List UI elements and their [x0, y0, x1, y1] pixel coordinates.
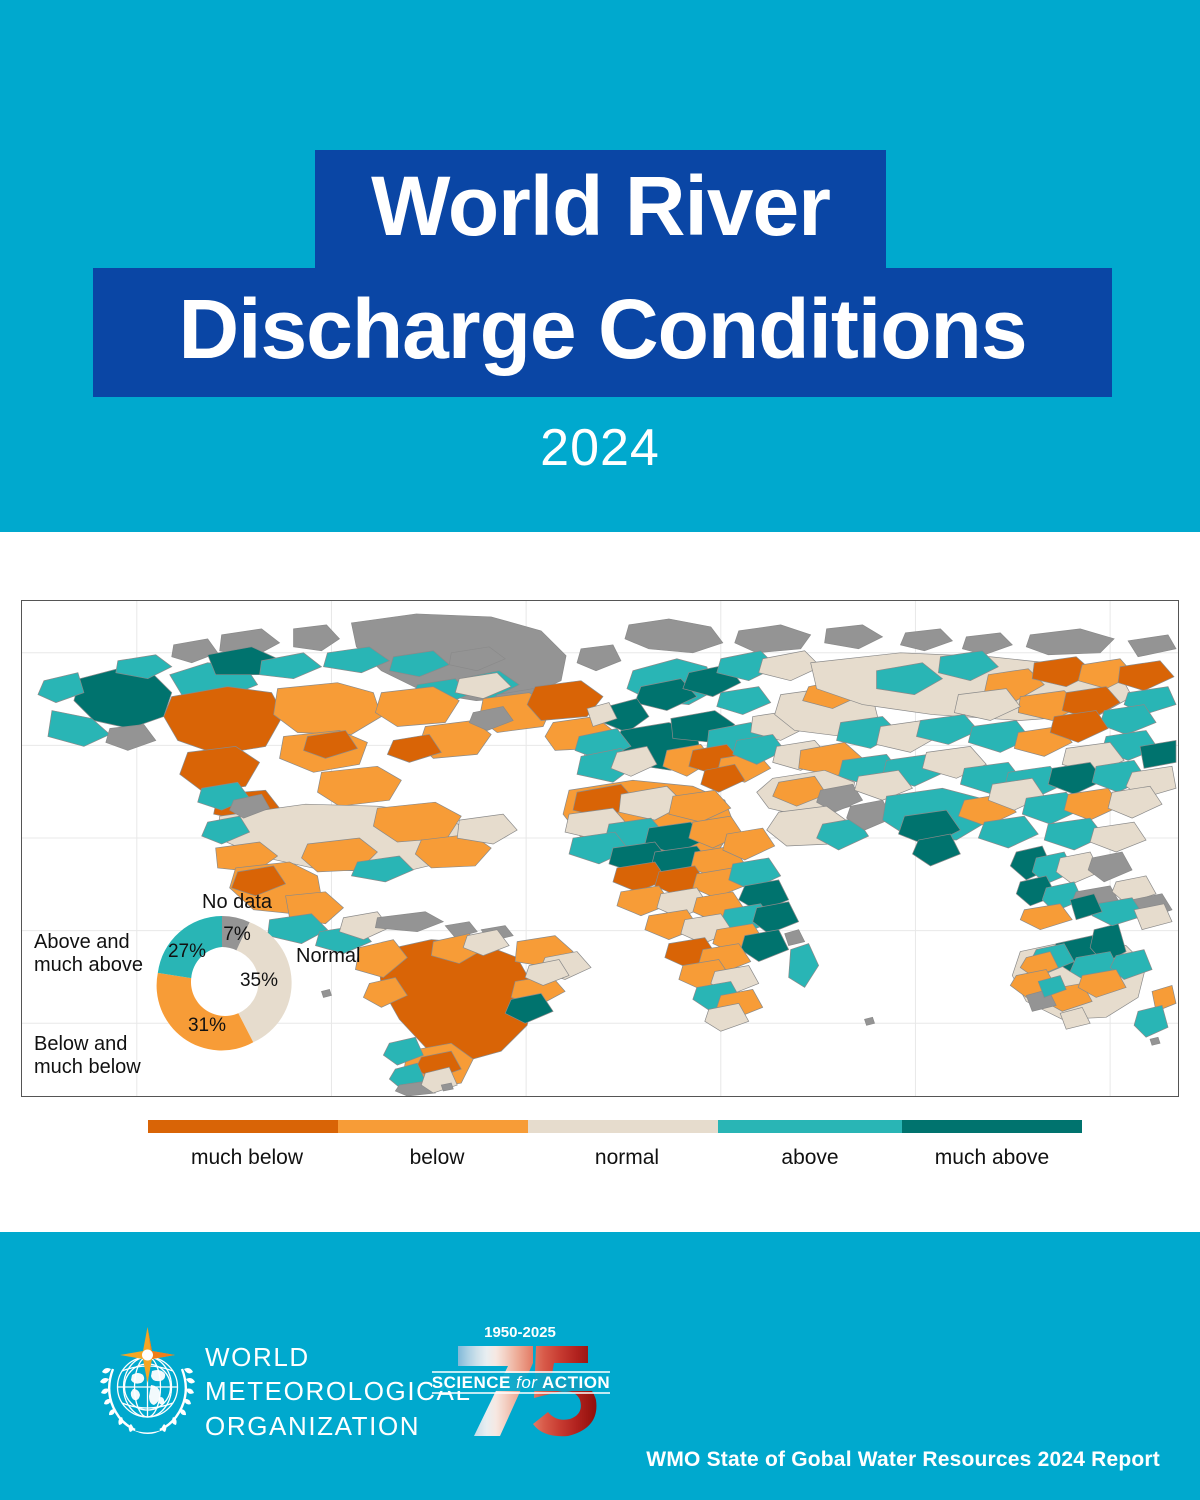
- page-title-line2: Discharge Conditions: [178, 287, 1026, 371]
- legend-label-normal: normal: [528, 1146, 726, 1170]
- page-title-line1: World River: [371, 164, 830, 248]
- donut-label-no-data: No data: [202, 891, 272, 914]
- donut-value-above: 27%: [168, 941, 206, 962]
- title-block-line2: Discharge Conditions: [93, 268, 1112, 397]
- header-band: World River Discharge Conditions 2024: [0, 0, 1200, 532]
- legend-label-above: above: [718, 1146, 902, 1170]
- anniversary-years: 1950-2025: [484, 1324, 556, 1341]
- legend-swatch-normal: [528, 1120, 726, 1133]
- legend-swatch-below: [338, 1120, 536, 1133]
- legend-item-much-above[interactable]: much above: [902, 1120, 1082, 1170]
- discharge-donut-chart: 7% 35% 31% 27%: [127, 886, 317, 1076]
- anniversary-tagline: SCIENCE for ACTION: [432, 1373, 610, 1392]
- donut-value-normal: 35%: [240, 970, 278, 991]
- legend-item-below[interactable]: below: [338, 1120, 536, 1170]
- donut-label-above-l1: Above and: [34, 931, 130, 953]
- footer-caption: WMO State of Gobal Water Resources 2024 …: [0, 1448, 1160, 1472]
- legend-swatch-much-above: [902, 1120, 1082, 1133]
- donut-label-below-l1: Below and: [34, 1033, 127, 1055]
- donut-svg: 7% 35% 31% 27%: [127, 886, 317, 1076]
- donut-label-above: Above andmuch above: [34, 931, 143, 977]
- figure-area: .mb{fill:#d96406;} /* much below */ .bl{…: [0, 532, 1200, 1232]
- donut-label-normal: Normal: [296, 945, 360, 968]
- donut-label-above-l2: much above: [34, 954, 143, 976]
- legend-swatch-above: [718, 1120, 902, 1133]
- donut-label-below-l2: much below: [34, 1056, 141, 1078]
- region-south-america: [355, 930, 591, 1096]
- legend-swatch-much-below: [148, 1120, 346, 1133]
- legend-label-below: below: [338, 1146, 536, 1170]
- legend-item-normal[interactable]: normal: [528, 1120, 726, 1170]
- map-legend: much below below normal above much above: [0, 1120, 1200, 1190]
- legend-item-above[interactable]: above: [718, 1120, 902, 1170]
- page-subtitle-year: 2024: [0, 418, 1200, 478]
- donut-value-below: 31%: [188, 1015, 226, 1036]
- wmo-emblem-logo: [95, 1325, 200, 1435]
- legend-label-much-above: much above: [902, 1146, 1082, 1170]
- donut-slice-below[interactable]: [157, 973, 254, 1051]
- title-block-line1: World River: [315, 150, 886, 270]
- wmo-75th-anniversary-logo: 1950-2025 SCIENCE for ACTION: [428, 1318, 613, 1440]
- legend-label-much-below: much below: [148, 1146, 346, 1170]
- donut-value-no-data: 7%: [223, 924, 251, 945]
- legend-item-much-below[interactable]: much below: [148, 1120, 346, 1170]
- donut-label-below: Below andmuch below: [34, 1033, 141, 1079]
- world-map-panel[interactable]: .mb{fill:#d96406;} /* much below */ .bl{…: [21, 600, 1179, 1097]
